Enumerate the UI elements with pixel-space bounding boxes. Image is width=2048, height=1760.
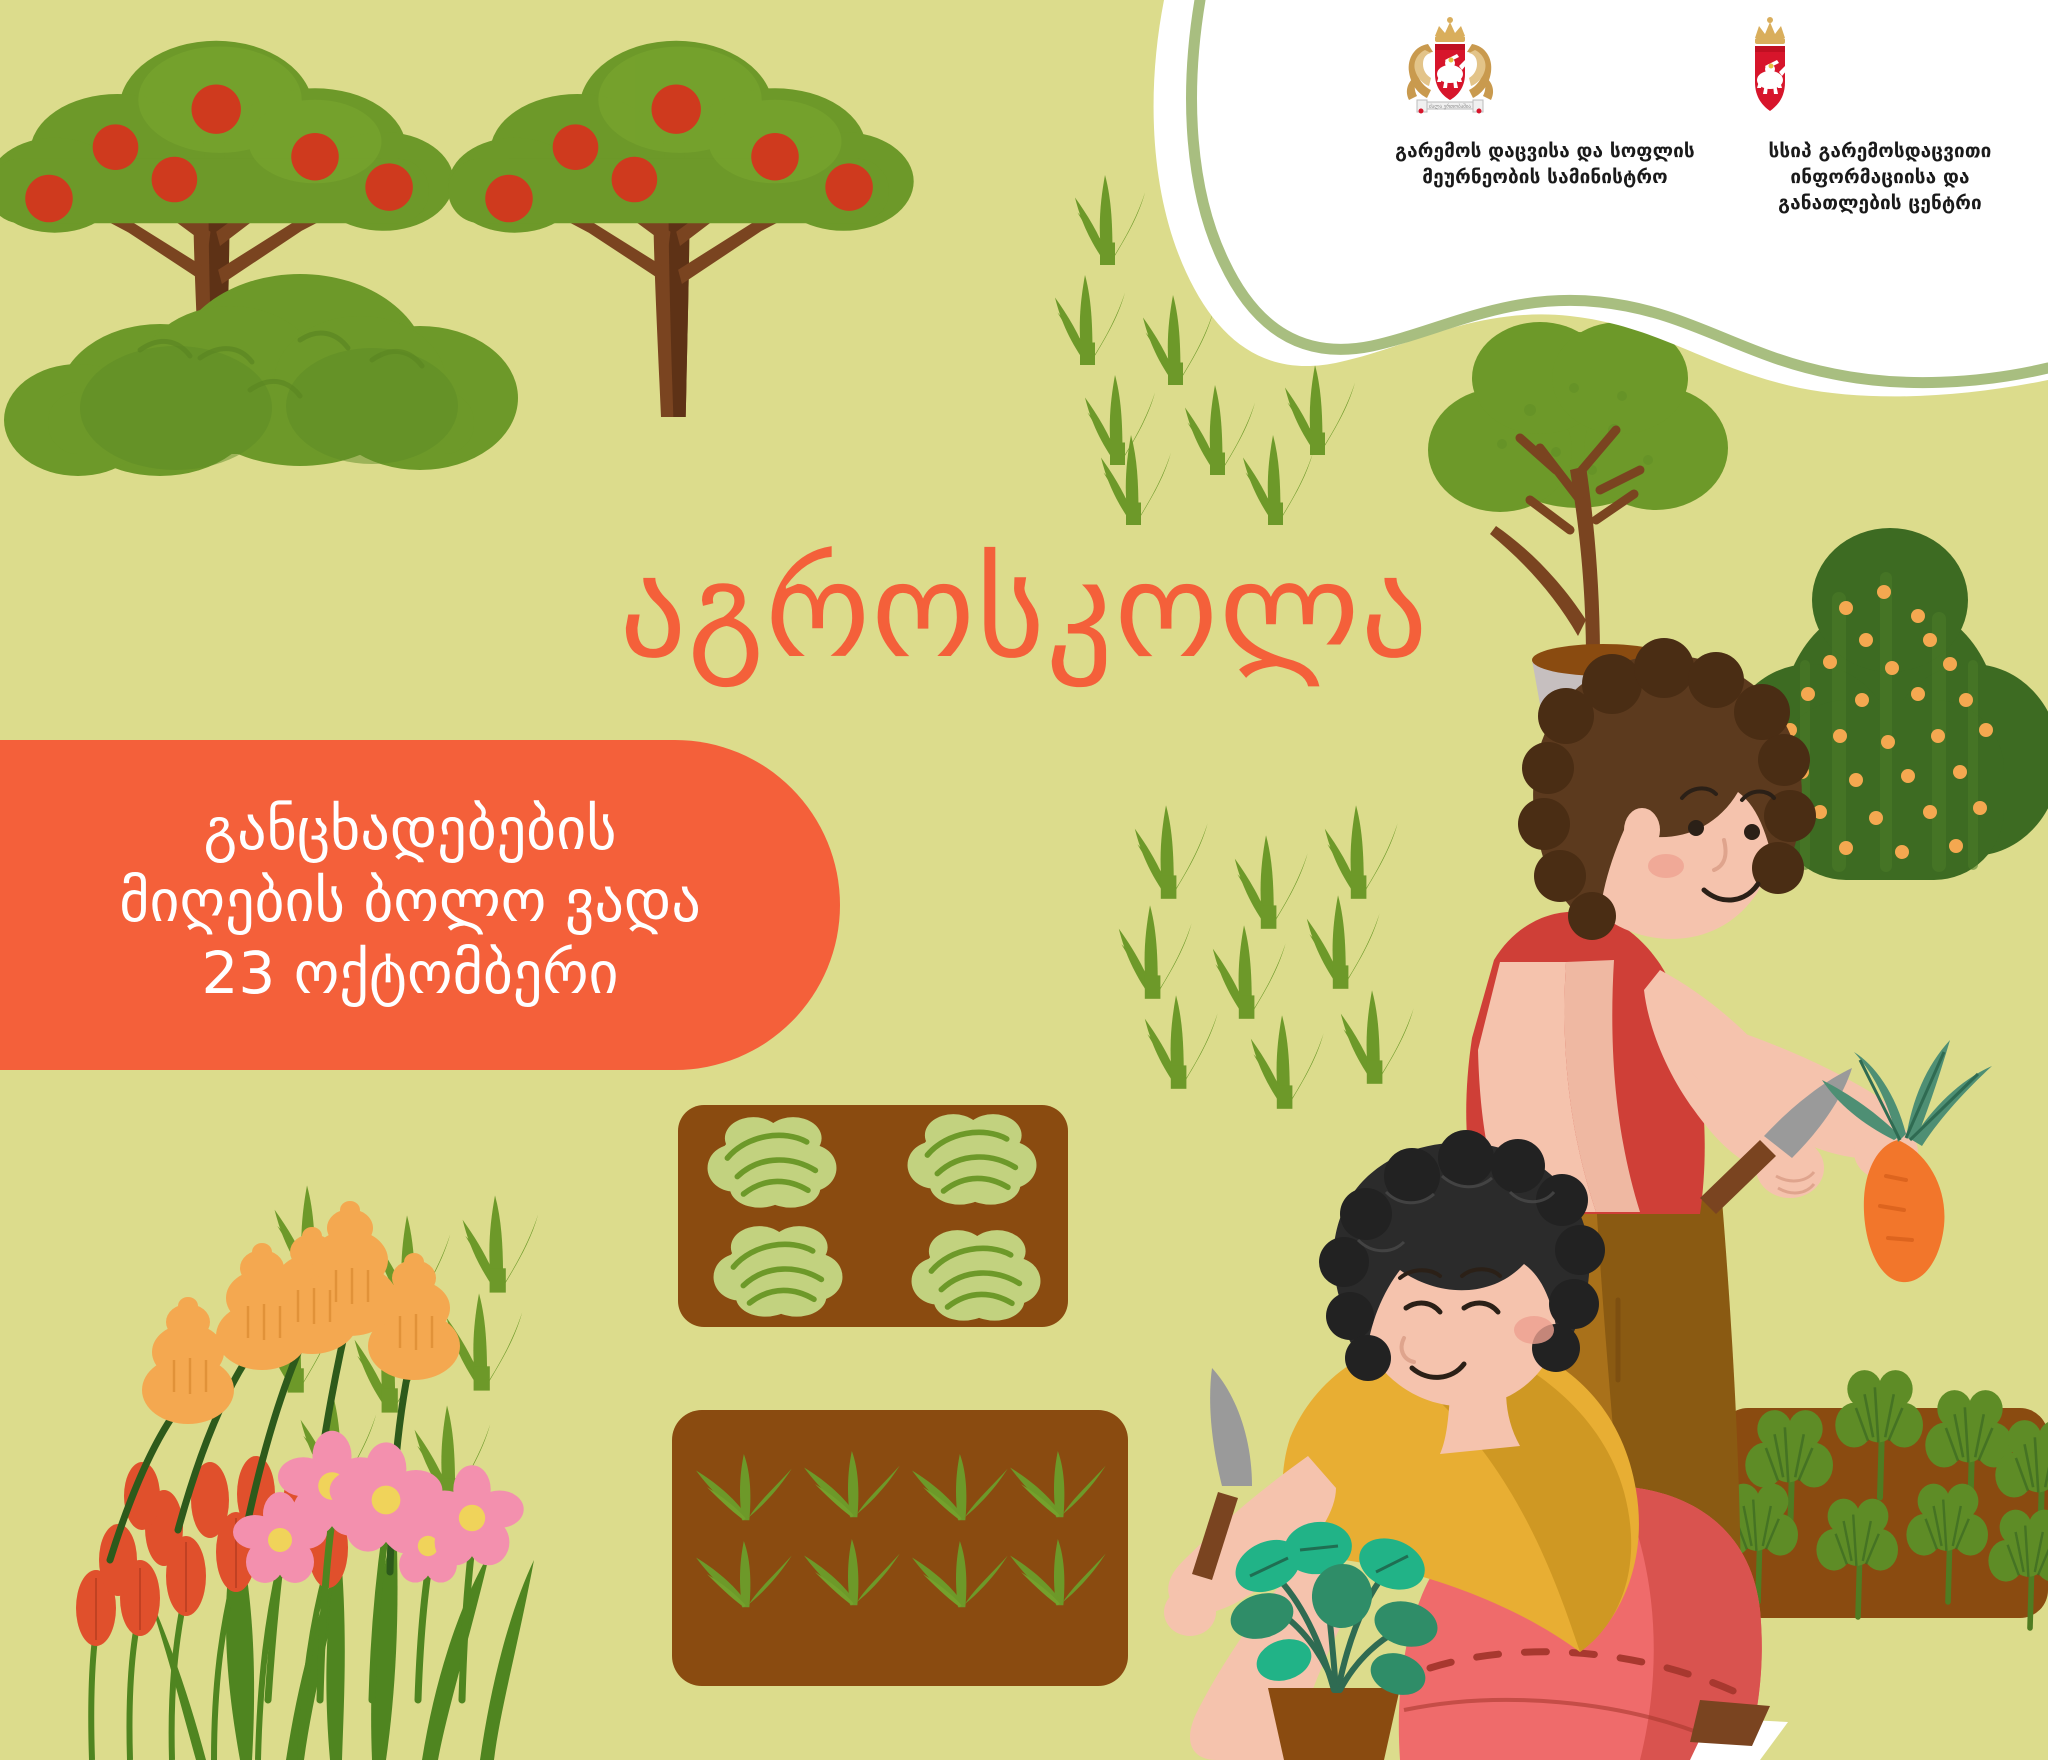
sprout-bed bbox=[672, 1410, 1128, 1686]
logo-ministry-line2: მეურნეობის სამინისტრო bbox=[1395, 164, 1695, 190]
logo-center-line1: სსიპ გარემოსდაცვითი bbox=[1735, 138, 2025, 164]
leafy-greens-bed bbox=[1716, 1370, 2048, 1628]
logo-ministry-line1: გარემოს დაცვისა და სოფლის bbox=[1395, 138, 1695, 164]
cabbage-bed bbox=[678, 1105, 1068, 1327]
logo-center-line2: ინფორმაციისა და bbox=[1735, 164, 2025, 190]
poster-canvas: ძალა ერთობაშია გარემოს დაცვისა და სოფლის… bbox=[0, 0, 2048, 1760]
logo-center-line3: განათლების ცენტრი bbox=[1735, 190, 2025, 216]
svg-text:ძალა ერთობაშია: ძალა ერთობაშია bbox=[1429, 103, 1471, 110]
georgia-shield-crest-icon bbox=[1735, 16, 2025, 126]
deadline-banner: განცხადებების მიღების ბოლო ვადა 23 ოქტომ… bbox=[0, 740, 840, 1070]
logo-center: სსიპ გარემოსდაცვითი ინფორმაციისა და განა… bbox=[1735, 16, 2025, 217]
georgia-coat-of-arms-icon: ძალა ერთობაშია bbox=[1395, 16, 1695, 126]
deadline-text: განცხადებების მიღების ბოლო ვადა 23 ოქტომ… bbox=[79, 794, 701, 1016]
logo-ministry: ძალა ერთობაშია გარემოს დაცვისა და სოფლის… bbox=[1395, 16, 1695, 190]
